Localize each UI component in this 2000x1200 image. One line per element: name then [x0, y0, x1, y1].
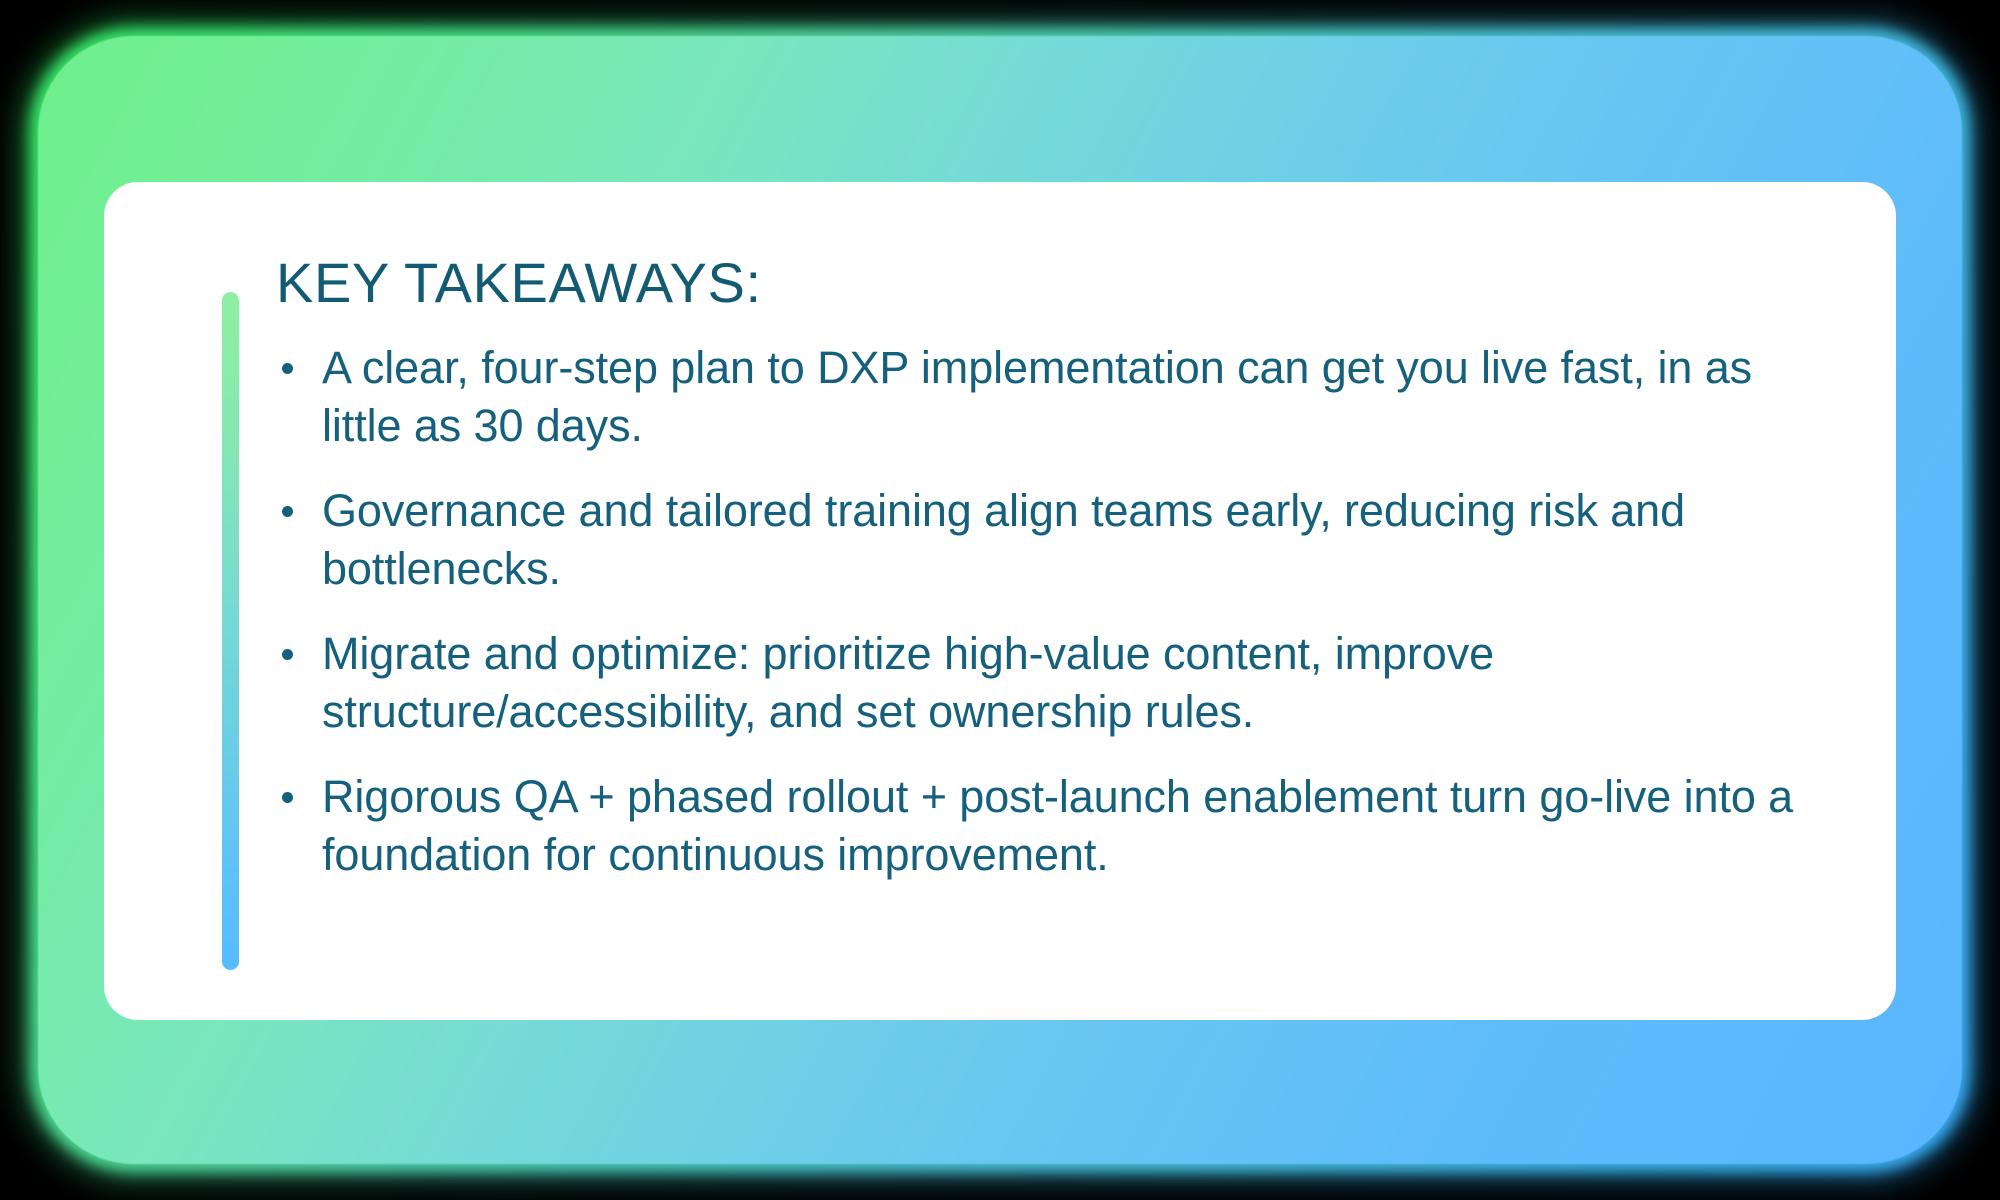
card-inner: KEY TAKEAWAYS: A clear, four-step plan t…: [178, 228, 1826, 974]
card-content: KEY TAKEAWAYS: A clear, four-step plan t…: [276, 228, 1826, 885]
list-item: Rigorous QA + phased rollout + post-laun…: [276, 768, 1826, 885]
list-item-text: Governance and tailored training align t…: [322, 485, 1685, 595]
bullet-dot-icon: [282, 649, 293, 660]
bullet-dot-icon: [282, 792, 293, 803]
list-item: Governance and tailored training align t…: [276, 482, 1826, 599]
takeaways-list: A clear, four-step plan to DXP implement…: [276, 339, 1826, 885]
page-background: KEY TAKEAWAYS: A clear, four-step plan t…: [0, 0, 2000, 1200]
list-item: Migrate and optimize: prioritize high-va…: [276, 625, 1826, 742]
list-item-text: Rigorous QA + phased rollout + post-laun…: [322, 771, 1793, 881]
list-item-text: A clear, four-step plan to DXP implement…: [322, 342, 1752, 452]
key-takeaways-card: KEY TAKEAWAYS: A clear, four-step plan t…: [104, 182, 1896, 1020]
list-item: A clear, four-step plan to DXP implement…: [276, 339, 1826, 456]
page-title: KEY TAKEAWAYS:: [276, 254, 1826, 313]
bullet-dot-icon: [282, 363, 293, 374]
bullet-dot-icon: [282, 506, 293, 517]
accent-bar: [222, 292, 239, 970]
list-item-text: Migrate and optimize: prioritize high-va…: [322, 628, 1494, 738]
